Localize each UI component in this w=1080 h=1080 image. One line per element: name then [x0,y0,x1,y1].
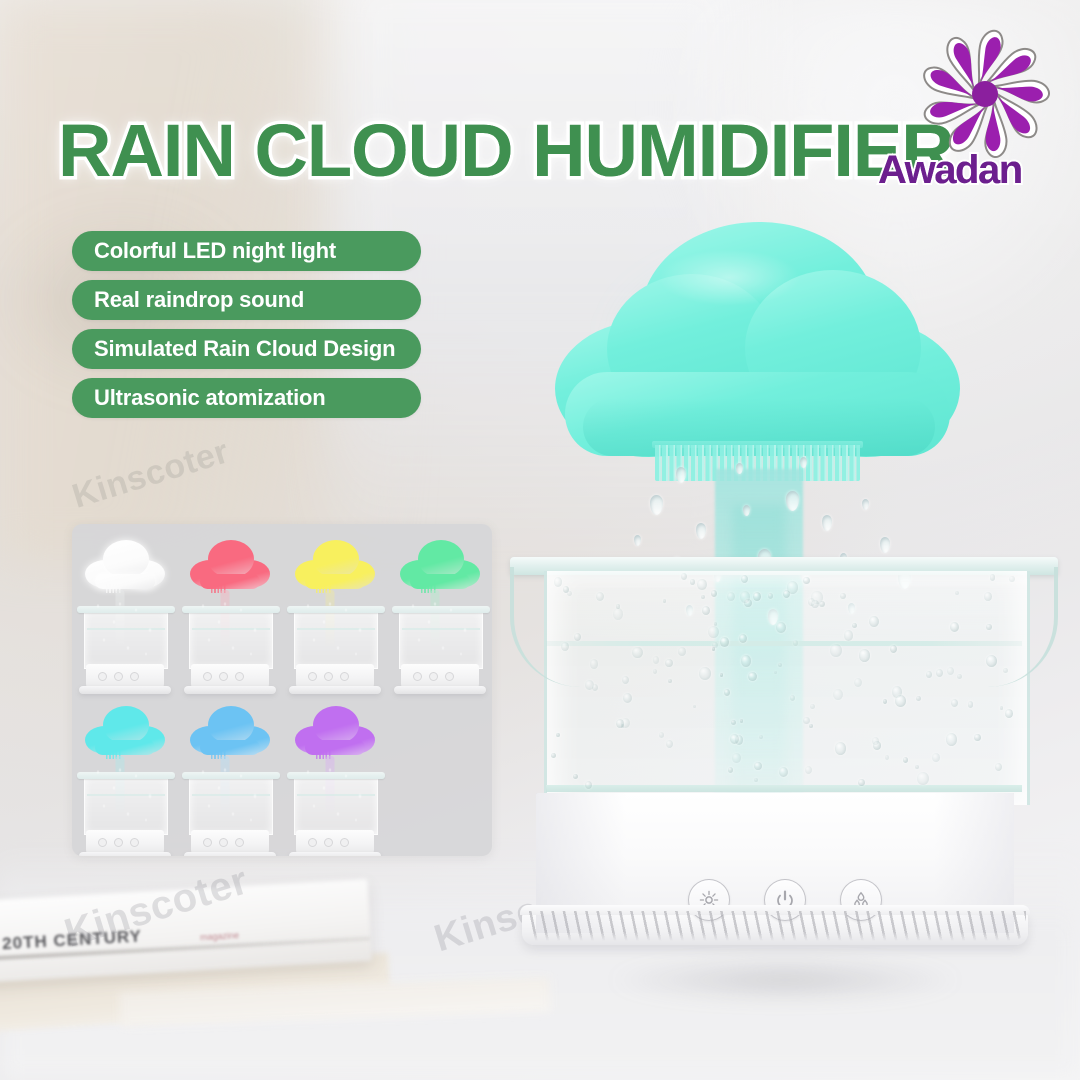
condensation-drop [936,669,943,677]
feature-list: Colorful LED night lightReal raindrop so… [72,231,421,418]
condensation-drop [665,659,672,667]
condensation-drop [854,678,862,687]
condensation-drop [819,601,824,607]
condensation-drop [790,695,795,701]
brand-name: Awadan [878,148,1022,193]
condensation-drop [613,608,623,619]
condensation-drop [955,591,959,595]
variant-button [203,672,212,681]
variant-button [324,838,333,847]
condensation-drop [678,647,686,656]
condensation-drop [690,579,695,584]
feature-pill-label: Ultrasonic atomization [94,385,326,411]
variant-buttons [308,838,349,847]
variant-buttons [203,672,244,681]
base-vent-slots [524,911,1026,941]
condensation-drop [840,593,846,600]
variant-drops [189,762,271,832]
condensation-drop [699,667,711,680]
condensation-drop [754,778,758,783]
condensation-drop [592,684,598,691]
condensation-drop [563,586,569,593]
condensation-drop [712,647,715,651]
condensation-drop [623,693,632,703]
condensation-drop [1005,709,1013,718]
condensation-drop [787,581,799,594]
raindrop [822,515,832,531]
variant-button [429,672,438,681]
condensation-drop [903,757,908,763]
variant-buttons [413,672,454,681]
variant-row [72,700,387,856]
variant-button [324,672,333,681]
variant-button [219,672,228,681]
condensation-drop [968,701,974,707]
variant-cloud-icon [85,706,165,754]
condensation-drop [727,592,735,602]
condensation-drop [951,699,958,707]
condensation-drop [779,767,788,777]
condensation-drop [872,737,879,745]
condensation-drop [995,763,1002,771]
condensation-drop [728,767,734,773]
condensation-drop [926,671,932,678]
condensation-drop [681,573,688,580]
variant-button [308,838,317,847]
condensation-drop [724,689,731,697]
product-advertisement-canvas: E 20TH CENTURY magazine Kinscoter Kinsco… [0,0,1080,1080]
condensation-drop [885,755,889,760]
condensation-drop [890,645,897,653]
variant-drops [84,596,166,666]
condensation-drop [805,766,812,774]
condensation-drop [741,575,748,583]
condensation-drop [622,676,629,684]
variant-button [98,838,107,847]
condensation-drop [663,599,666,602]
tank-condensation-drops [550,573,1020,793]
condensation-drop [702,606,710,615]
condensation-drop [990,574,995,580]
variant-button [203,838,212,847]
variant-cloud-icon [190,706,270,754]
condensation-drop [590,659,599,669]
condensation-drop [720,673,723,677]
variant-button [130,672,139,681]
condensation-drop [708,626,719,638]
condensation-drop [730,734,739,744]
condensation-drop [1003,668,1008,673]
variant-button [340,672,349,681]
main-product-image [500,205,1060,1035]
variant-cloud-icon [400,540,480,588]
raindrop [650,495,663,515]
variant-button [114,672,123,681]
variant-purple[interactable] [282,700,387,856]
variant-drops [189,596,271,666]
color-variant-grid [72,524,492,856]
condensation-drop [653,669,657,674]
variant-drops [84,762,166,832]
condensation-drop [666,740,673,748]
variant-drops [294,762,376,832]
variant-button [413,672,422,681]
condensation-drop [668,679,672,683]
variant-white[interactable] [72,534,177,694]
condensation-drop [759,735,763,739]
variant-cloud-icon [295,706,375,754]
water-tank [510,557,1058,807]
condensation-drop [1009,576,1015,582]
condensation-drop [701,595,705,599]
variant-cyan[interactable] [72,700,177,856]
condensation-drop [803,577,810,585]
raindrop [634,535,641,546]
variant-pink[interactable] [177,534,282,694]
condensation-drop [946,733,957,746]
condensation-drop [974,734,980,741]
condensation-drop [895,695,906,707]
condensation-drop [793,640,798,645]
condensation-drop [739,634,747,643]
variant-button [98,672,107,681]
condensation-drop [574,633,581,641]
variant-drops [399,596,481,666]
condensation-drop [740,591,750,602]
variant-button [445,672,454,681]
variant-buttons [308,672,349,681]
condensation-drop [659,732,664,738]
variant-yellow[interactable] [282,534,387,694]
condensation-drop [986,624,991,630]
condensation-drop [551,753,556,758]
condensation-drop [697,579,707,590]
feature-pill-label: Simulated Rain Cloud Design [94,336,395,362]
variant-button [235,672,244,681]
condensation-drop [741,655,752,667]
condensation-drop [858,779,865,787]
condensation-drop [947,667,954,675]
condensation-drop [915,765,919,770]
condensation-drop [778,663,782,667]
condensation-drop [859,649,870,661]
condensation-drop [561,642,569,651]
raindrop [696,523,706,539]
variant-button [114,838,123,847]
condensation-drop [835,742,846,755]
condensation-drop [869,616,879,627]
feature-pill-3: Ultrasonic atomization [72,378,421,418]
condensation-drop [774,671,777,674]
condensation-drop [957,674,962,680]
variant-cloud-icon [85,540,165,588]
condensation-drop [754,762,762,770]
variant-button [340,838,349,847]
condensation-drop [720,637,729,647]
condensation-drop [753,592,761,601]
condensation-drop [768,593,773,599]
condensation-drop [830,644,842,657]
condensation-drop [731,720,736,726]
variant-buttons [98,838,139,847]
variant-button [219,838,228,847]
condensation-drop [1000,706,1003,709]
condensation-drop [616,604,620,608]
condensation-drop [809,724,812,728]
variant-button [130,838,139,847]
condensation-drop [585,781,592,789]
condensation-drop [653,656,660,663]
condensation-drop [556,733,560,738]
variant-cloud-icon [190,540,270,588]
condensation-drop [852,623,857,628]
condensation-drop [632,647,642,659]
variant-button [235,838,244,847]
condensation-drop [740,719,743,723]
feature-pill-0: Colorful LED night light [72,231,421,271]
condensation-drop [693,705,696,709]
brand-logo: Awadan Awadan [900,22,1070,192]
feature-pill-2: Simulated Rain Cloud Design [72,329,421,369]
condensation-drop [732,753,741,763]
variant-buttons [203,838,244,847]
product-floor-shadow [540,950,1030,1010]
page-title: RAIN CLOUD HUMIDIFIER [58,112,954,190]
condensation-drop [810,704,815,710]
feature-pill-1: Real raindrop sound [72,280,421,320]
condensation-drop [748,672,757,682]
condensation-drop [596,592,605,602]
condensation-drop [916,696,921,701]
condensation-drop [950,622,959,632]
variant-drops [294,596,376,666]
condensation-drop [984,592,992,601]
condensation-drop [776,622,786,633]
condensation-drop [917,772,929,785]
variant-button [308,672,317,681]
condensation-drop [573,774,578,779]
condensation-drop [844,630,853,641]
cloud-lamp-icon [555,222,960,457]
condensation-drop [932,753,940,762]
condensation-drop [883,699,887,704]
raindrop [880,537,890,553]
condensation-drop [811,600,819,609]
variant-cloud-icon [295,540,375,588]
condensation-drop [833,689,843,701]
variant-row [72,534,492,694]
feature-pill-label: Real raindrop sound [94,287,304,313]
condensation-drop [986,655,997,667]
condensation-drop [554,577,563,587]
condensation-drop [711,590,717,597]
variant-buttons [98,672,139,681]
variant-green[interactable] [387,534,492,694]
feature-pill-label: Colorful LED night light [94,238,336,264]
raindrop [862,499,869,510]
variant-blue[interactable] [177,700,282,856]
